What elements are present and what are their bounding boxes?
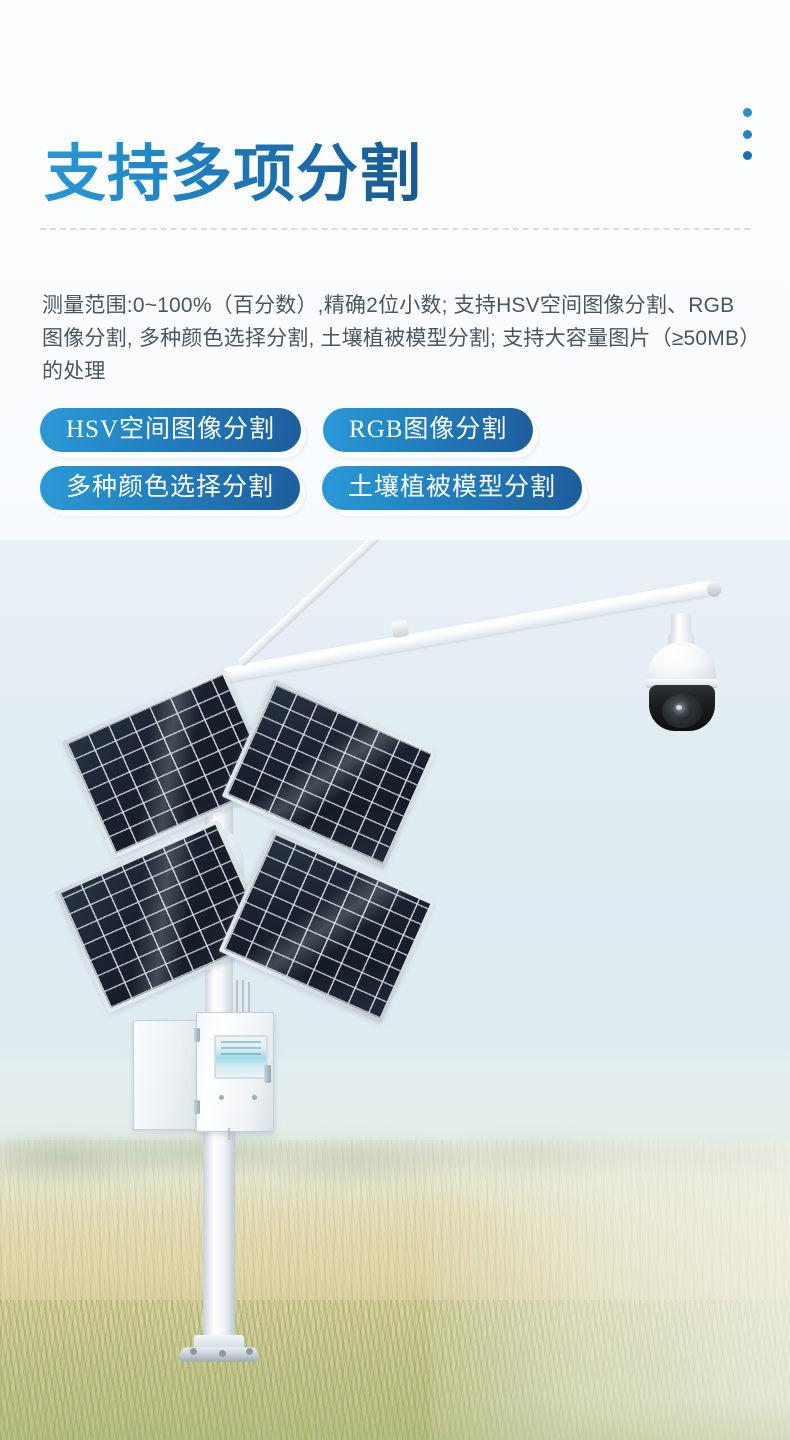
monitoring-station-rig [0,540,790,1440]
camera-lens-glass [672,702,692,720]
solar-panel-bottom-right [219,830,436,1024]
cabinet-cable [228,1128,230,1140]
feature-pill-row-1: HSV空间图像分割 RGB图像分割 [40,408,740,452]
solar-panel-top-right [222,679,437,868]
kebab-dot-1 [743,108,752,117]
camera-lens-glint [676,705,682,710]
pill-multicolor-segmentation[interactable]: 多种颜色选择分割 [40,466,300,510]
feature-pill-group: HSV空间图像分割 RGB图像分割 多种颜色选择分割 土壤植被模型分割 [40,408,740,524]
feature-pill-row-2: 多种颜色选择分割 土壤植被模型分割 [40,466,740,510]
mast-lower [203,1095,235,1353]
lcd-line-3 [221,1053,261,1055]
pill-rgb-segmentation[interactable]: RGB图像分割 [323,408,533,452]
page-root: 支持多项分割 测量范围:0~100%（百分数）,精确2位小数; 支持HSV空间图… [0,0,790,1440]
base-bolt-left [190,1348,197,1355]
cabinet-open-door[interactable] [133,1020,201,1130]
lcd-line-2 [221,1047,261,1049]
pill-label: 多种颜色选择分割 [66,475,274,500]
lcd-line-1 [221,1041,261,1043]
kebab-dot-3 [743,151,752,160]
description-text: 测量范围:0~100%（百分数）,精确2位小数; 支持HSV空间图像分割、RGB… [42,289,754,388]
boom-arm [221,580,716,683]
pill-hsv-segmentation[interactable]: HSV空间图像分割 [40,408,301,452]
kebab-dot-2 [743,130,752,139]
boom-strut-joint [391,620,410,639]
lcd-display [214,1035,268,1079]
cabinet-latch[interactable] [264,1065,271,1083]
cabinet-screw-right [252,1095,257,1100]
pill-soil-vegetation-model-segmentation[interactable]: 土壤植被模型分割 [322,466,582,510]
cabinet-hinge-top [194,1028,200,1042]
kebab-menu-icon[interactable] [738,108,756,160]
cabinet-hinge-bottom [194,1100,200,1114]
pill-label: HSV空间图像分割 [66,417,275,442]
solar-cells [227,685,431,864]
header: 支持多项分割 [0,0,790,230]
cabinet-screw-left [219,1095,224,1100]
solar-cells [224,835,430,1018]
base-bolt-right [246,1348,253,1355]
pill-label: 土壤植被模型分割 [348,475,556,500]
page-title: 支持多项分割 [44,137,422,213]
pill-label: RGB图像分割 [349,417,507,442]
header-divider [40,228,750,230]
product-photo [0,540,790,1440]
base-bolt-mid [219,1350,226,1357]
